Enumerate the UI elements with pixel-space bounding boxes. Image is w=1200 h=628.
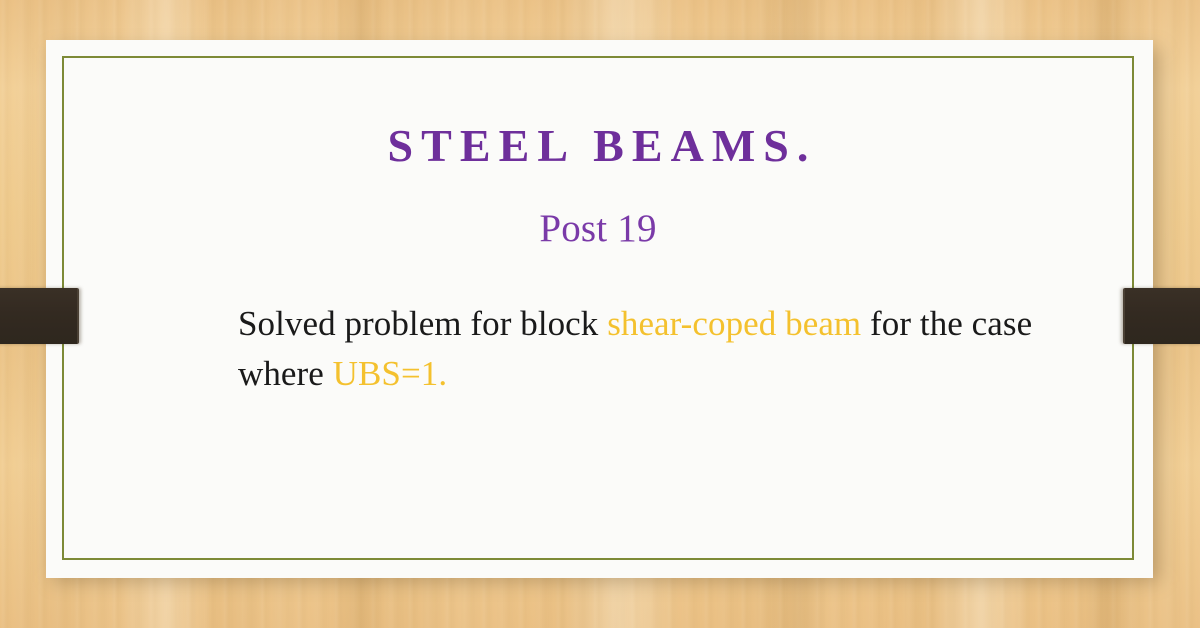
page-title: STEEL BEAMS.	[62, 122, 1134, 170]
body-paragraph: Solved problem for block shear-coped bea…	[238, 299, 1058, 399]
right-decorative-tab	[1123, 288, 1200, 344]
body-text-segment-highlight: shear-coped beam	[607, 304, 861, 343]
body-text-segment-highlight: UBS=1.	[333, 354, 448, 393]
page-subtitle: Post 19	[62, 208, 1134, 251]
presentation-slide: STEEL BEAMS. Post 19 Solved problem for …	[0, 0, 1200, 628]
slide-content: STEEL BEAMS. Post 19 Solved problem for …	[62, 56, 1134, 560]
body-text-segment-plain: Solved problem for block	[238, 304, 607, 343]
